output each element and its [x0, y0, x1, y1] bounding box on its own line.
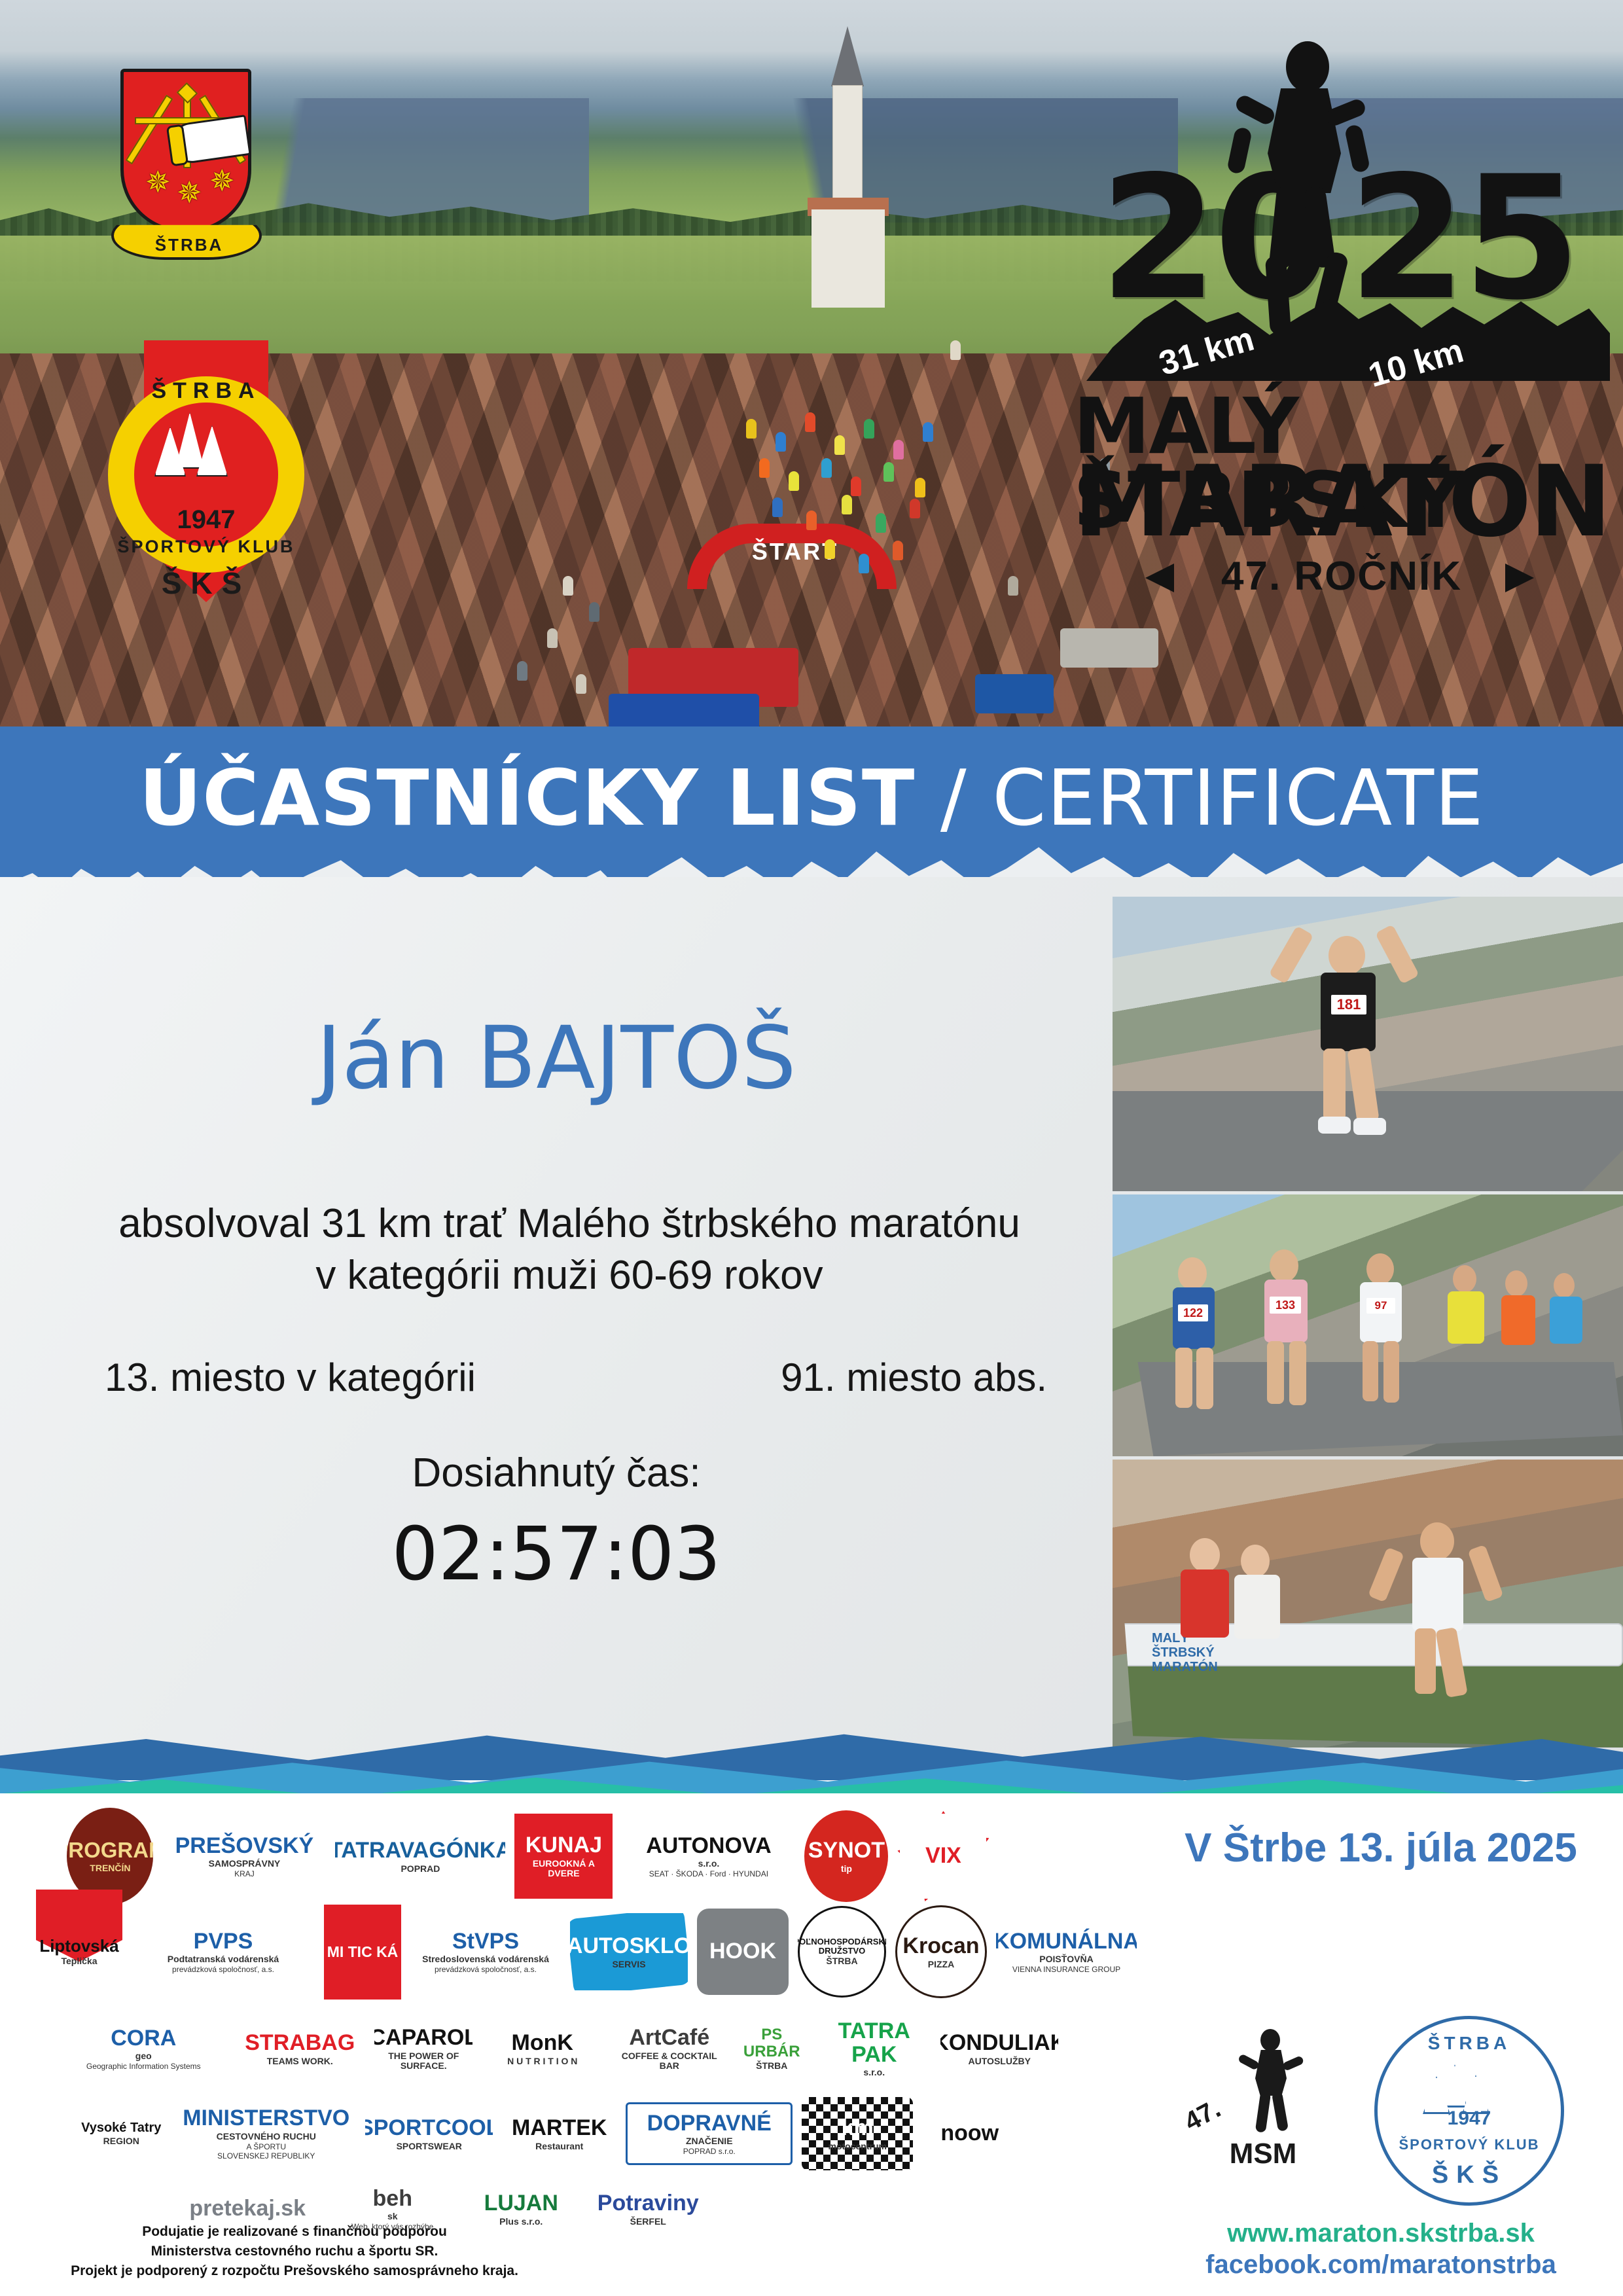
- certificate-title-band: ÚČASTNÍCKY LIST / CERTIFICATE: [0, 726, 1623, 877]
- club-top-label: ŠTRBA: [98, 378, 314, 404]
- sponsor-logo-tagline: geo: [133, 2051, 154, 2061]
- runner-silhouette-icon: [1227, 36, 1378, 337]
- sponsor-logo-name: DOPRAVNÉ: [645, 2112, 774, 2136]
- sponsor-logo-tagline: SLOVENSKEJ REPUBLIKY: [215, 2152, 317, 2161]
- sponsor-logo-mark: TATRAVAGÓNKAPOPRAD: [335, 1816, 505, 1896]
- sponsor-logo-name: beh: [370, 2187, 415, 2211]
- sponsor-logo-strabag[interactable]: STRABAGTEAMS WORK.: [234, 2011, 365, 2087]
- sponsor-logo-tagline: EUROOKNÁ A DVERE: [514, 1859, 613, 1878]
- website-link[interactable]: www.maraton.skstrba.sk: [1152, 2219, 1610, 2248]
- race-bib: 122: [1178, 1304, 1208, 1321]
- sponsor-logo-miticka[interactable]: MI TIC KÁ: [324, 1905, 401, 2000]
- sponsor-logo-tagline: SAMOSPRÁVNY: [206, 1859, 283, 1869]
- sponsor-logo-mark: Vysoké TatryREGION: [75, 2078, 167, 2189]
- sponsor-logo-name: MINISTERSTVO: [180, 2107, 352, 2130]
- photo-male-finisher: MALÝ ŠTRBSKÝ MARATÓN: [1113, 1460, 1623, 1748]
- sponsor-logo-name: VIX: [923, 1844, 964, 1868]
- sponsor-logo-tagline: CESTOVNÉHO RUCHU: [214, 2132, 319, 2142]
- race-photo-collage: 181 122 133 97: [1113, 897, 1623, 1748]
- sponsor-logo-tagline: motocentrum: [826, 2142, 889, 2151]
- sponsor-logo-mark: KONDULIAKAUTOSLUŽBY: [940, 2015, 1058, 2083]
- funding-credit: Podujatie je realizované s finančnou pod…: [39, 2222, 550, 2280]
- right-arrow-icon: [1505, 564, 1534, 592]
- sponsor-logo-mark: DOPRAVNÉZNAČENIEPOPRAD s.r.o.: [626, 2102, 793, 2165]
- sponsor-logo-name: SYNOT: [806, 1839, 887, 1863]
- sponsor-logo-name: Liptovská: [37, 1937, 121, 1955]
- sponsor-logo-name: MI TIC KÁ: [325, 1944, 401, 1960]
- sponsor-logo-mark: CORAgeoGeographic Information Systems: [62, 2010, 225, 2087]
- sponsor-logo-tagline: ŠERFEL: [628, 2217, 669, 2227]
- sponsor-logo-name: AUTONOVA: [643, 1835, 774, 1858]
- coat-of-arms-banner-label: ŠTRBA: [114, 235, 264, 255]
- sponsor-logo-presovsky-samospravny-kraj[interactable]: PREŠOVSKÝSAMOSPRÁVNYKRAJ: [162, 1814, 326, 1899]
- page-title-bold: ÚČASTNÍCKY LIST: [139, 753, 915, 843]
- footer: PROGRAMTRENČÍNPREŠOVSKÝSAMOSPRÁVNYKRAJTA…: [0, 1793, 1623, 2296]
- sponsor-logo-name: PVPS: [191, 1930, 256, 1954]
- sponsor-logo-liptovska-teplicka[interactable]: LiptovskáTeplička: [36, 1890, 122, 2014]
- sponsor-logo-tagline: SPORTSWEAR: [394, 2142, 465, 2151]
- sponsor-logo-name: SPORTCOOL: [365, 2117, 493, 2140]
- sponsor-logo-dopravne-znacenie-poprad-sro[interactable]: DOPRAVNÉZNAČENIEPOPRAD s.r.o.: [626, 2102, 793, 2165]
- sponsor-logo-mark: MonKN U T R I T I O N: [482, 2011, 603, 2087]
- sponsor-logo-tagline: COFFEE & COCKTAIL BAR: [612, 2051, 726, 2070]
- page-title-separator: /: [915, 753, 992, 843]
- runner-silhouette-icon: [1237, 2029, 1309, 2147]
- photo-female-finisher: 181: [1113, 897, 1623, 1191]
- sponsor-logo-tagline: s.r.o.: [696, 1859, 722, 1869]
- sponsor-logo-name: KONDULIAK: [940, 2032, 1058, 2055]
- funding-credit-line-1: Podujatie je realizované s finančnou pod…: [39, 2222, 550, 2242]
- sponsor-logo-tagline: s.r.o.: [861, 2068, 887, 2077]
- page-title-regular: CERTIFICATE: [992, 753, 1484, 843]
- page-title: ÚČASTNÍCKY LIST / CERTIFICATE: [0, 753, 1623, 843]
- sponsor-logo-name: Krocan: [900, 1935, 982, 1958]
- sponsor-logo-mark: KUNAJEUROOKNÁ A DVERE: [514, 1814, 613, 1899]
- msm-edition: 47.: [1180, 2094, 1226, 2138]
- sponsor-logo-mark: KOMUNÁLNAPOISŤOVŇAVIENNA INSURANCE GROUP: [996, 1909, 1137, 1994]
- sponsor-logo-name: noow: [938, 2122, 1001, 2145]
- sponsor-logo-hook[interactable]: HOOK: [697, 1909, 789, 1995]
- race-edition: 47. ROČNÍK: [1145, 553, 1538, 600]
- church-icon: [805, 26, 890, 301]
- sponsor-logo-tagline: KRAJ: [232, 1870, 257, 1878]
- facebook-link[interactable]: facebook.com/maratonstrba: [1152, 2250, 1610, 2280]
- sponsor-logo-name: HOOK: [707, 1940, 779, 1964]
- sponsor-logo-pd-strba[interactable]: POĽNOHOSPODÁRSKE DRUŽSTVOŠTRBA: [798, 1906, 886, 1998]
- sponsor-logo-name: KUNAJ: [523, 1834, 605, 1857]
- race-bib: 181: [1331, 995, 1366, 1014]
- sponsor-logo-tagline: prevádzková spoločnosť, a.s.: [169, 1965, 277, 1974]
- sponsor-logo-sportcool-sportswear[interactable]: SPORTCOOLSPORTSWEAR: [365, 2098, 493, 2169]
- sponsor-logo-mark: kmmotocentrum: [802, 2097, 913, 2170]
- sponsor-logo-mark: AUTOSKLOSERVIS: [570, 1913, 688, 1990]
- sponsor-logo-name: pretekaj.sk: [187, 2197, 308, 2221]
- footer-right-column: V Štrbe 13. júla 2025 47. MSM ŠTR: [1152, 1806, 1610, 2291]
- finish-banner-line2: ŠTRBSKÝ: [1152, 1645, 1215, 1660]
- sponsor-logo-caparol[interactable]: CAPAROLTHE POWER OF SURFACE.: [374, 2007, 473, 2090]
- sponsor-logo-mark: SYNOTtip: [804, 1810, 888, 1902]
- funding-credit-line-3: Projekt je podporený z rozpočtu Prešovsk…: [39, 2261, 550, 2281]
- msm-emblem: 47. MSM: [1178, 2022, 1348, 2193]
- sponsor-logo-autonova-sro[interactable]: AUTONOVAs.r.o.SEAT · ŠKODA · Ford · HYUN…: [622, 1813, 795, 1899]
- msm-label: MSM: [1178, 2138, 1348, 2170]
- sks-footer-year: 1947: [1374, 2108, 1564, 2130]
- sponsor-logo-tagline: POPRAD s.r.o.: [681, 2147, 738, 2156]
- club-year: 1947: [98, 505, 314, 535]
- sponsor-logo-potraviny-serfel[interactable]: PotravinyŠERFEL: [584, 2175, 712, 2243]
- sponsor-logo-tagline: prevádzková spoločnosť, a.s.: [432, 1965, 539, 1974]
- finish-banner-line3: MARATÓN: [1152, 1660, 1218, 1674]
- sponsor-logo-name: Vysoké Tatry: [79, 2121, 164, 2135]
- sponsor-logo-mark: HOOK: [697, 1909, 789, 1995]
- sponsor-logo-tagline: ŠTRBA: [753, 2061, 790, 2071]
- sponsor-logo-mark: SPORTCOOLSPORTSWEAR: [365, 2098, 493, 2169]
- sponsor-logo-name: PROGRAM: [67, 1839, 153, 1862]
- sponsor-logo-name: AUTOSKLO: [570, 1935, 688, 1958]
- sks-strba-club-emblem: ŠTRBA 1947 ŠPORTOVÝ KLUB ŠKŠ: [98, 340, 314, 602]
- sponsor-logo-name: MonK: [509, 2032, 576, 2055]
- sponsor-logo-tagline: ZNAČENIE: [683, 2136, 736, 2146]
- sponsor-logo-ministerstvo-cestovneho-ruchu-a-sportu-sr[interactable]: MINISTERSTVOCESTOVNÉHO RUCHUA ŠPORTUSLOV…: [176, 2091, 356, 2176]
- sponsor-logo-tagline: Restaurant: [533, 2142, 586, 2151]
- sponsor-logo-tagline: tip: [838, 1864, 855, 1874]
- sponsor-logo-mark: KrocanPIZZA: [895, 1905, 987, 1998]
- club-initials: ŠKŠ: [98, 565, 314, 601]
- sponsor-logo-name: km: [839, 2117, 876, 2140]
- sponsor-logo-tagline: SERVIS: [609, 1960, 648, 1969]
- sponsor-logo-mark: PotravinyŠERFEL: [584, 2175, 712, 2243]
- sponsor-logo-noow[interactable]: noow: [922, 2100, 1017, 2168]
- photo-runner-pack: 122 133 97: [1113, 1194, 1623, 1456]
- sks-footer-top-label: ŠTRBA: [1374, 2033, 1564, 2054]
- sponsor-logo-tagline: Web, ktorý vás rozhýbe: [349, 2223, 436, 2231]
- sponsor-logo-name: PREŠOVSKÝ: [173, 1835, 317, 1858]
- sponsor-logo-tagline: sk: [385, 2212, 401, 2221]
- sponsor-logo-tagline: Stredoslovenská vodárenská: [419, 1954, 552, 1964]
- sponsor-logo-name: POĽNOHOSPODÁRSKE DRUŽSTVO: [798, 1937, 886, 1955]
- placement-row: 13. miesto v kategórii 91. miesto abs.: [39, 1355, 1113, 1400]
- sponsor-logo-tagline: Teplička: [59, 1956, 100, 1966]
- sponsor-logo-name: TATRA PAK: [817, 2020, 931, 2066]
- sks-footer-bottom-label: ŠPORTOVÝ KLUB: [1374, 2136, 1564, 2153]
- certificate-page: ŠTART: [0, 0, 1623, 2296]
- sponsor-logo-tagline: Podtatranská vodárenská: [165, 1954, 281, 1964]
- sponsor-logo-vix[interactable]: VIX: [897, 1811, 989, 1901]
- sponsor-logo-monk-nutrition[interactable]: MonKN U T R I T I O N: [482, 2011, 603, 2087]
- sponsor-logo-mark: STRABAGTEAMS WORK.: [234, 2011, 365, 2087]
- sponsor-logo-mark: TATRA PAKs.r.o.: [817, 2013, 931, 2084]
- finish-time-label: Dosiahnutý čas:: [0, 1450, 1113, 1496]
- sponsor-logo-corageo[interactable]: CORAgeoGeographic Information Systems: [62, 2010, 225, 2087]
- sponsor-logo-tagline: N U T R I T I O N: [505, 2056, 580, 2066]
- sponsor-logo-tagline: A ŠPORTU: [244, 2143, 289, 2151]
- race-bib: 133: [1270, 1297, 1301, 1314]
- funding-credit-line-2: Ministerstva cestovného ruchu a športu S…: [39, 2242, 550, 2261]
- sponsor-logo-mark: PS URBÁRŠTRBA: [736, 2003, 808, 2094]
- sponsor-logo-mark: MINISTERSTVOCESTOVNÉHO RUCHUA ŠPORTUSLOV…: [176, 2091, 356, 2176]
- sponsor-logo-ps-urbar-strba[interactable]: PS URBÁRŠTRBA: [736, 2003, 808, 2094]
- race-bib: 97: [1366, 1298, 1395, 1314]
- sponsor-logo-grid: PROGRAMTRENČÍNPREŠOVSKÝSAMOSPRÁVNYKRAJTA…: [36, 1806, 1135, 2199]
- sponsor-logo-vysoke-tatry-region[interactable]: Vysoké TatryREGION: [75, 2078, 167, 2189]
- sponsor-logo-tagline: Plus s.r.o.: [497, 2217, 545, 2227]
- sponsor-logo-name: LUJAN: [482, 2192, 561, 2215]
- sponsor-logo-stvps[interactable]: StVPSStredoslovenská vodárenskáprevádzko…: [410, 1909, 561, 1995]
- sponsor-logo-tagline: TRENČÍN: [87, 1863, 133, 1873]
- description-line-1: absolvoval 31 km trať Malého štrbského m…: [39, 1198, 1099, 1249]
- sponsor-logo-tagline: VIENNA INSURANCE GROUP: [1010, 1965, 1123, 1974]
- sponsor-logo-mark: PREŠOVSKÝSAMOSPRÁVNYKRAJ: [162, 1814, 326, 1899]
- sponsor-logo-tagline: THE POWER OF SURFACE.: [374, 2051, 473, 2070]
- sponsor-logo-mark: CAPAROLTHE POWER OF SURFACE.: [374, 2007, 473, 2090]
- athlete-name: Ján BAJTOŠ: [0, 1008, 1113, 1109]
- sponsor-logo-name: TATRAVAGÓNKA: [335, 1839, 505, 1863]
- sponsor-logo-mark: LiptovskáTeplička: [36, 1890, 122, 2014]
- sponsor-logo-kunaj-eurookna-a-dvere[interactable]: KUNAJEUROOKNÁ A DVERE: [514, 1814, 613, 1899]
- sponsor-logo-martek-restaurant[interactable]: MARTEKRestaurant: [502, 2082, 616, 2185]
- sponsor-logo-tagline: AUTOSLUŽBY: [966, 2056, 1033, 2066]
- finish-time-value: 02:57:03: [0, 1512, 1113, 1597]
- sponsor-logo-synot-tip[interactable]: SYNOTtip: [804, 1810, 888, 1902]
- sponsor-logo-km-motocentrum[interactable]: kmmotocentrum: [802, 2097, 913, 2170]
- strba-coat-of-arms: ✵ ✵ ✵ ŠTRBA: [111, 69, 262, 291]
- sponsor-logo-name: MARTEK: [509, 2117, 609, 2140]
- sponsor-logo-tagline: TEAMS WORK.: [264, 2056, 336, 2066]
- sponsor-logo-mark: PVPSPodtatranská vodárenskáprevádzková s…: [132, 1910, 315, 1994]
- sponsor-logo-name: KOMUNÁLNA: [996, 1930, 1137, 1954]
- sponsor-logo-name: STRABAG: [242, 2032, 357, 2055]
- race-title-line2: MARATÓN: [1073, 455, 1623, 549]
- sponsor-logo-tagline: ŠTRBA: [823, 1956, 860, 1966]
- sponsor-logo-mark: POĽNOHOSPODÁRSKE DRUŽSTVOŠTRBA: [798, 1906, 886, 1998]
- description-line-2: v kategórii muži 60-69 rokov: [39, 1249, 1099, 1301]
- sponsor-logo-tatravagonka-poprad[interactable]: TATRAVAGÓNKAPOPRAD: [335, 1816, 505, 1896]
- sponsor-logo-name: ArtCafé: [626, 2026, 712, 2050]
- race-logo: 20 25 31 km 10 km MALÝ ŠTRBSKÝ MARATÓN 4…: [1060, 36, 1623, 612]
- sponsor-logo-mark: ArtCaféCOFFEE & COCKTAIL BAR: [612, 2007, 726, 2090]
- sponsor-logo-name: CORA: [108, 2027, 179, 2051]
- sponsor-logo-krocan-pizza[interactable]: KrocanPIZZA: [895, 1905, 987, 1998]
- sponsor-logo-artcafe[interactable]: ArtCaféCOFFEE & COCKTAIL BAR: [612, 2007, 726, 2090]
- sponsor-logo-pvps[interactable]: PVPSPodtatranská vodárenskáprevádzková s…: [132, 1910, 315, 1994]
- sponsor-logo-mark: StVPSStredoslovenská vodárenskáprevádzko…: [410, 1909, 561, 1995]
- sponsor-logo-tagline: REGION: [101, 2136, 142, 2146]
- place-in-category: 13. miesto v kategórii: [39, 1355, 541, 1400]
- sponsor-logo-tagline: SEAT · ŠKODA · Ford · HYUNDAI: [647, 1870, 771, 1878]
- year-right: 25: [1348, 154, 1577, 324]
- sponsor-logo-komunalna-poistovna[interactable]: KOMUNÁLNAPOISŤOVŇAVIENNA INSURANCE GROUP: [996, 1909, 1137, 1994]
- sponsor-logo-mark: VIX: [897, 1811, 989, 1901]
- sponsor-logo-mark: MARTEKRestaurant: [502, 2082, 616, 2185]
- sponsor-logo-name: CAPAROL: [374, 2026, 473, 2050]
- sponsor-logo-tagline: POPRAD: [398, 1864, 442, 1874]
- sponsor-logo-konduliak-autosluzby[interactable]: KONDULIAKAUTOSLUŽBY: [940, 2015, 1058, 2083]
- certificate-description: absolvoval 31 km trať Malého štrbského m…: [39, 1198, 1099, 1302]
- sponsor-logo-name: Potraviny: [595, 2192, 702, 2215]
- start-arch: ŠTART: [641, 504, 949, 622]
- hero-photo-village-start: ŠTART: [0, 0, 1623, 726]
- place-absolute: 91. miesto abs.: [715, 1355, 1113, 1400]
- club-bottom-label: ŠPORTOVÝ KLUB: [98, 537, 314, 557]
- sks-footer-emblem: ŠTRBA 1947 ŠPORTOVÝ KLUB ŠKŠ: [1374, 2016, 1564, 2206]
- sponsor-logo-autosklo-servis[interactable]: AUTOSKLOSERVIS: [570, 1913, 688, 1990]
- start-banner-label: ŠTART: [733, 538, 857, 565]
- sponsor-logo-name: StVPS: [450, 1930, 522, 1954]
- sponsor-logo-mark: noow: [922, 2100, 1017, 2168]
- sponsor-logo-mark: AUTONOVAs.r.o.SEAT · ŠKODA · Ford · HYUN…: [622, 1813, 795, 1899]
- sponsor-logo-tatrapak-sro[interactable]: TATRA PAKs.r.o.: [817, 2013, 931, 2084]
- date-and-place: V Štrbe 13. júla 2025: [1152, 1825, 1610, 1871]
- sponsor-logo-tagline: PIZZA: [925, 1960, 957, 1969]
- sponsor-logo-mark: MI TIC KÁ: [324, 1905, 401, 2000]
- sponsor-logo-name: PS URBÁR: [736, 2026, 808, 2059]
- sponsor-logo-tagline: Geographic Information Systems: [84, 2062, 204, 2071]
- sponsor-logo-tagline: POISŤOVŇA: [1037, 1954, 1096, 1964]
- sks-footer-initials: ŠKŠ: [1374, 2161, 1564, 2189]
